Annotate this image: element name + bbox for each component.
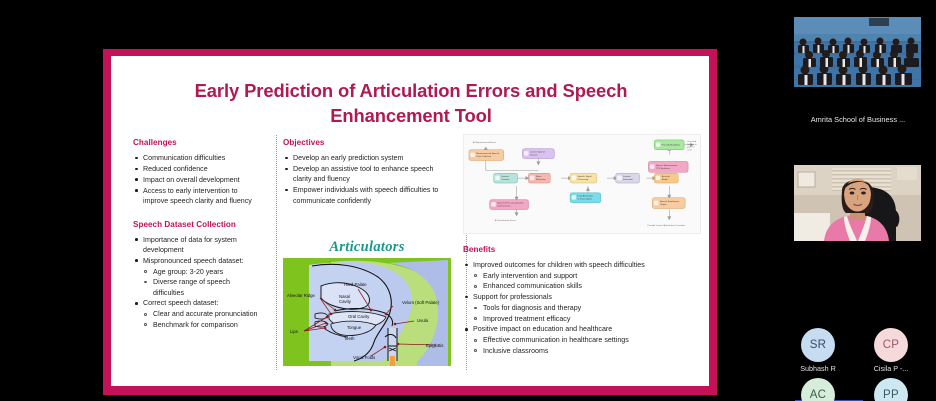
avatar-label: Subhash R xyxy=(783,364,853,373)
participant-strip[interactable]: Amrita School of Business ... xyxy=(780,0,936,401)
vocal-tract-svg: Alveolar Ridge Hard Palate Velum (Soft P… xyxy=(283,258,451,366)
section-heading-objectives: Objectives xyxy=(283,137,451,148)
flow-node-label: Speech Signal xyxy=(578,176,593,178)
sublist-item: Clear and accurate pronunciation xyxy=(143,309,261,319)
avatar: CP xyxy=(874,328,908,362)
bullet-icon xyxy=(135,259,138,262)
list-item-label: Reduced confidence xyxy=(143,164,261,174)
avatar: SR xyxy=(801,328,835,362)
screen-share-window: Early Prediction of Articulation Errors … xyxy=(0,0,936,401)
participant-avatar-cisila-p[interactable]: CP Cisila P -... xyxy=(856,328,926,373)
webcam-speaker-image xyxy=(794,165,921,241)
participant-avatar-grid[interactable]: SR Subhash R CP Cisila P -... AC PP xyxy=(780,328,936,401)
vocal-tract-diagram-image: Alveolar Ridge Hard Palate Velum (Soft P… xyxy=(283,258,451,366)
sublist-item: Diverse range of speech difficulties xyxy=(143,277,261,298)
hollow-bullet-icon xyxy=(474,339,477,342)
bullet-icon xyxy=(285,157,288,160)
page-title: Early Prediction of Articulation Errors … xyxy=(165,78,657,128)
sublist-item-label: Inclusive classrooms xyxy=(483,346,701,356)
list-item: Impact on overall development xyxy=(133,175,261,185)
video-tile-prema-nedungadi[interactable]: Prema Nedungadi. xyxy=(780,139,936,281)
list-item-label: Correct speech dataset: xyxy=(143,298,261,308)
list-item-label: Impact on overall development xyxy=(143,175,261,185)
bullet-icon xyxy=(465,296,468,299)
flow-node-label: Model xyxy=(662,179,668,181)
flow-node-label: Noise xyxy=(536,176,542,178)
list-item-label: Empower individuals with speech difficul… xyxy=(293,185,451,206)
benefits-list: Improved outcomes for children with spee… xyxy=(463,260,701,356)
hollow-bullet-icon xyxy=(144,270,147,273)
articulators-figure-title: Articulators xyxy=(283,238,451,257)
sublist-item-label: Improved treatment efficacy xyxy=(483,314,701,324)
hollow-bullet-icon xyxy=(474,349,477,352)
slide-column-objectives: Objectives Develop an early prediction s… xyxy=(283,137,451,207)
list-item-label: Improved outcomes for children with spee… xyxy=(473,260,701,270)
hollow-bullet-icon xyxy=(144,281,147,284)
column-divider-left xyxy=(276,135,277,370)
articulator-label: Cavity xyxy=(339,299,352,304)
list-item-label: Communication difficulties xyxy=(143,153,261,163)
articulator-label: Velum (Soft Palate) xyxy=(402,300,440,305)
sublist: Early intervention and support Enhanced … xyxy=(473,271,701,292)
list-item-label: Positive impact on education and healthc… xyxy=(473,324,701,334)
articulator-label: Alveolar Ridge xyxy=(287,293,316,298)
speech-dataset-collection-list: Importance of data for system developmen… xyxy=(133,235,261,331)
hollow-bullet-icon xyxy=(474,274,477,277)
list-item: Positive impact on education and healthc… xyxy=(463,324,701,356)
sublist: Clear and accurate pronunciation Benchma… xyxy=(143,309,261,330)
slide-column-challenges: Challenges Communication difficulties Re… xyxy=(133,137,261,331)
bullet-icon xyxy=(135,302,138,305)
sublist-item-label: Effective communication in healthcare se… xyxy=(483,335,701,345)
sublist-item-label: Tools for diagnosis and therapy xyxy=(483,303,701,313)
articulator-label: Teeth xyxy=(344,336,355,341)
sublist-item: Inclusive classrooms xyxy=(473,346,701,356)
flow-caption: carer xyxy=(687,150,692,152)
sublist: Tools for diagnosis and therapy Improved… xyxy=(473,303,701,324)
articulator-label: Lips xyxy=(290,329,298,334)
sublist-item: Age group: 3-20 years xyxy=(143,267,261,277)
list-item-label: Develop an assistive tool to enhance spe… xyxy=(293,164,451,185)
sublist-item: Effective communication in healthcare se… xyxy=(473,335,701,345)
participant-avatar-ac[interactable]: AC xyxy=(783,378,853,401)
bullet-icon xyxy=(465,264,468,267)
avatar-label: Cisila P -... xyxy=(856,364,926,373)
sublist-item: Improved treatment efficacy xyxy=(473,314,701,324)
sublist-item: Tools for diagnosis and therapy xyxy=(473,303,701,313)
sublist-item-label: Age group: 3-20 years xyxy=(153,267,261,277)
list-item: Correct speech dataset: Clear and accura… xyxy=(133,298,261,330)
bullet-icon xyxy=(135,189,138,192)
hollow-bullet-icon xyxy=(144,323,147,326)
bullet-icon xyxy=(465,328,468,331)
sublist-item: Early intervention and support xyxy=(473,271,701,281)
shared-screen-stage[interactable]: Early Prediction of Articulation Errors … xyxy=(0,0,780,401)
sublist-item-label: Enhanced communication skills xyxy=(483,281,701,291)
sublist-item-label: Benchmark for comparison xyxy=(153,320,261,330)
list-item-label: Access to early intervention to improve … xyxy=(143,186,261,207)
avatar-initials: AC xyxy=(810,389,827,401)
list-item: Reduced confidence xyxy=(133,164,261,174)
bullet-icon xyxy=(285,189,288,192)
challenges-list: Communication difficulties Reduced confi… xyxy=(133,153,261,207)
sublist-item-label: Diverse range of speech difficulties xyxy=(153,277,261,298)
articulator-label: Nasal xyxy=(339,294,350,299)
articulator-label: Vocal Folds xyxy=(353,355,375,360)
articulator-label: Epiglottis xyxy=(426,343,443,348)
avatar: PP xyxy=(874,378,908,401)
articulators-figure: Articulators xyxy=(283,238,451,366)
bullet-icon xyxy=(135,178,138,181)
list-item: Develop an early prediction system xyxy=(283,153,451,163)
list-item: Access to early intervention to improve … xyxy=(133,186,261,207)
bullet-icon xyxy=(135,238,138,241)
bullet-icon xyxy=(135,157,138,160)
sublist: Effective communication in healthcare se… xyxy=(473,335,701,356)
system-pipeline-flowchart: Mispronounced Speech Data Collection Cor… xyxy=(463,134,701,234)
presentation-slide: Early Prediction of Articulation Errors … xyxy=(111,56,709,386)
sublist-item: Benchmark for comparison xyxy=(143,320,261,330)
hollow-bullet-icon xyxy=(474,317,477,320)
video-thumbnail[interactable] xyxy=(794,165,921,241)
sublist: Age group: 3-20 years Diverse range of s… xyxy=(143,267,261,298)
list-item-label: Support for professionals xyxy=(473,292,701,302)
objectives-list: Develop an early prediction system Devel… xyxy=(283,153,451,206)
list-item: Mispronounced speech dataset: Age group:… xyxy=(133,256,261,298)
slide-border-frame: Early Prediction of Articulation Errors … xyxy=(103,49,717,395)
articulator-label: Tongue xyxy=(347,325,362,330)
section-heading-benefits: Benefits xyxy=(463,244,701,255)
participant-avatar-subhash-r[interactable]: SR Subhash R xyxy=(783,328,853,373)
list-item: Communication difficulties xyxy=(133,153,261,163)
avatar-initials: SR xyxy=(810,339,827,351)
avatar-initials: CP xyxy=(883,339,900,351)
bullet-icon xyxy=(285,168,288,171)
hollow-bullet-icon xyxy=(474,285,477,288)
list-item: Develop an assistive tool to enhance spe… xyxy=(283,164,451,185)
section-heading-speech-dataset-collection: Speech Dataset Collection xyxy=(133,219,261,230)
articulator-label: Oral Cavity xyxy=(348,314,370,319)
articulator-label: Hard Palate xyxy=(344,282,367,287)
bullet-icon xyxy=(135,168,138,171)
avatar-initials: PP xyxy=(883,389,899,401)
sublist-item-label: Early intervention and support xyxy=(483,271,701,281)
hollow-bullet-icon xyxy=(144,313,147,316)
flowchart-svg: Mispronounced Speech Data Collection Cor… xyxy=(464,135,700,233)
video-thumbnail[interactable] xyxy=(794,17,921,87)
list-item-label: Importance of data for system developmen… xyxy=(143,235,261,256)
list-item-label: Mispronounced speech dataset: xyxy=(143,256,261,266)
section-heading-challenges: Challenges xyxy=(133,137,261,148)
sublist-item-label: Clear and accurate pronunciation xyxy=(153,309,261,319)
auditorium-audience-image xyxy=(794,17,921,87)
list-item: Empower individuals with speech difficul… xyxy=(283,185,451,206)
list-item: Improved outcomes for children with spee… xyxy=(463,260,701,292)
sublist-item: Enhanced communication skills xyxy=(473,281,701,291)
avatar: AC xyxy=(801,378,835,401)
list-item: Support for professionals Tools for diag… xyxy=(463,292,701,324)
list-item-label: Develop an early prediction system xyxy=(293,153,451,163)
articulator-label: Uvula xyxy=(417,318,429,323)
hollow-bullet-icon xyxy=(474,307,477,310)
participant-avatar-pp[interactable]: PP xyxy=(856,378,926,401)
participant-name-label: Amrita School of Business ... xyxy=(780,115,936,125)
list-item: Importance of data for system developmen… xyxy=(133,235,261,256)
video-tile-amrita-school-of-business[interactable]: Amrita School of Business ... xyxy=(780,4,936,135)
